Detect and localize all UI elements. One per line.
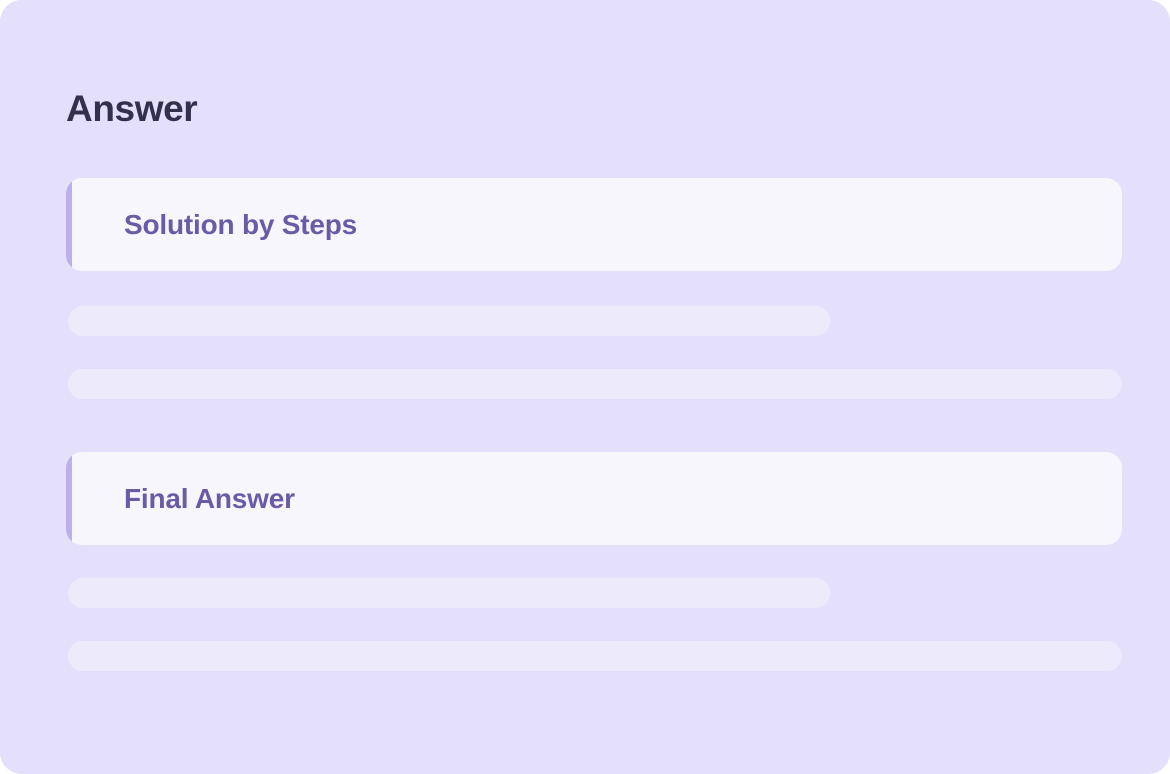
skeleton-placeholder-bar: [68, 369, 1122, 399]
section-header-label-solution-by-steps: Solution by Steps: [66, 211, 357, 239]
page-title: Answer: [66, 90, 197, 127]
answer-panel: Answer Solution by Steps Final Answer: [0, 0, 1170, 774]
skeleton-placeholder-bar: [68, 578, 830, 608]
accent-bar-icon: [66, 452, 72, 545]
section-header-final-answer: Final Answer: [66, 452, 1122, 545]
skeleton-placeholder-bar: [68, 641, 1122, 671]
section-header-solution-by-steps: Solution by Steps: [66, 178, 1122, 271]
section-header-label-final-answer: Final Answer: [66, 485, 295, 513]
skeleton-placeholder-bar: [68, 306, 830, 336]
accent-bar-icon: [66, 178, 72, 271]
panel-content: Answer Solution by Steps Final Answer: [0, 0, 1170, 774]
